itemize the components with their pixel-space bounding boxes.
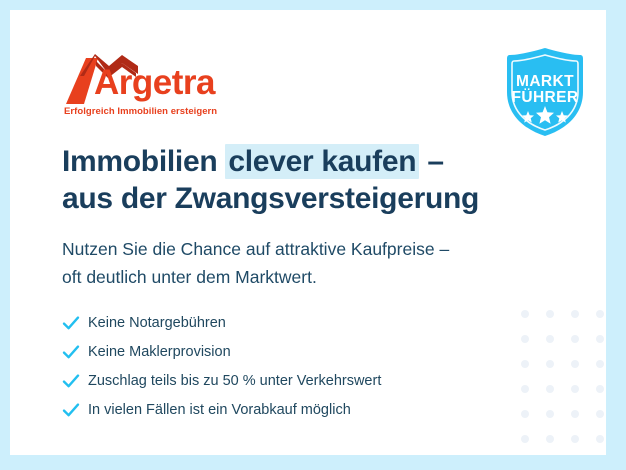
list-item: In vielen Fällen ist ein Vorabkauf mögli… — [62, 395, 522, 424]
check-icon — [62, 373, 88, 389]
list-item-label: In vielen Fällen ist ein Vorabkauf mögli… — [88, 402, 351, 418]
decorative-dot — [571, 410, 579, 418]
logo-wordmark: Argetra — [94, 65, 215, 100]
subheadline-line-2: oft deutlich unter dem Marktwert. — [62, 263, 532, 291]
decorative-dot — [596, 310, 604, 318]
decorative-dot — [546, 360, 554, 368]
headline-line-2: aus der Zwangsversteigerung — [62, 180, 532, 217]
list-item: Keine Maklerprovision — [62, 337, 522, 366]
decorative-dot — [571, 310, 579, 318]
decorative-dot — [521, 360, 529, 368]
decorative-dot — [571, 435, 579, 443]
check-icon — [62, 402, 88, 418]
decorative-dot — [596, 410, 604, 418]
argetra-logo: Argetra Erfolgreich Immobilien ersteiger… — [62, 54, 212, 120]
shield-badge-icon: MARKT FÜHRER — [502, 46, 588, 138]
market-leader-badge: MARKT FÜHRER — [502, 46, 588, 138]
decorative-dot — [596, 335, 604, 343]
decorative-dot — [596, 385, 604, 393]
decorative-dot — [596, 435, 604, 443]
page-title: Immobilien clever kaufen – aus der Zwang… — [62, 143, 532, 217]
subheadline: Nutzen Sie die Chance auf attraktive Kau… — [62, 235, 532, 291]
decorative-dot — [571, 335, 579, 343]
list-item-label: Keine Maklerprovision — [88, 344, 231, 360]
headline-highlight: clever kaufen — [225, 144, 419, 179]
decorative-dot — [521, 435, 529, 443]
decorative-dot — [521, 335, 529, 343]
decorative-dot — [571, 385, 579, 393]
headline-line-1: Immobilien clever kaufen – — [62, 143, 532, 180]
badge-line-2: FÜHRER — [512, 89, 579, 106]
outer-frame: Argetra Erfolgreich Immobilien ersteiger… — [0, 0, 626, 470]
decorative-dot — [521, 410, 529, 418]
check-icon — [62, 315, 88, 331]
decorative-dot — [596, 360, 604, 368]
benefit-list: Keine NotargebührenKeine Maklerprovision… — [62, 308, 522, 424]
headline-text-before: Immobilien — [62, 145, 225, 178]
decorative-dot — [521, 385, 529, 393]
logo-tagline: Erfolgreich Immobilien ersteigern — [64, 106, 217, 117]
decorative-dot — [546, 335, 554, 343]
decorative-dot — [546, 435, 554, 443]
decorative-dot — [571, 360, 579, 368]
headline-text-after: – — [419, 145, 443, 178]
check-icon — [62, 344, 88, 360]
list-item: Zuschlag teils bis zu 50 % unter Verkehr… — [62, 366, 522, 395]
decorative-dot — [546, 410, 554, 418]
decorative-dot — [546, 310, 554, 318]
list-item-label: Keine Notargebühren — [88, 315, 226, 331]
decorative-dot-grid — [521, 310, 606, 455]
badge-line-1: MARKT — [516, 73, 574, 90]
subheadline-line-1: Nutzen Sie die Chance auf attraktive Kau… — [62, 235, 532, 263]
list-item-label: Zuschlag teils bis zu 50 % unter Verkehr… — [88, 373, 381, 389]
decorative-dot — [521, 310, 529, 318]
decorative-dot — [546, 385, 554, 393]
list-item: Keine Notargebühren — [62, 308, 522, 337]
promo-card: Argetra Erfolgreich Immobilien ersteiger… — [10, 10, 606, 455]
